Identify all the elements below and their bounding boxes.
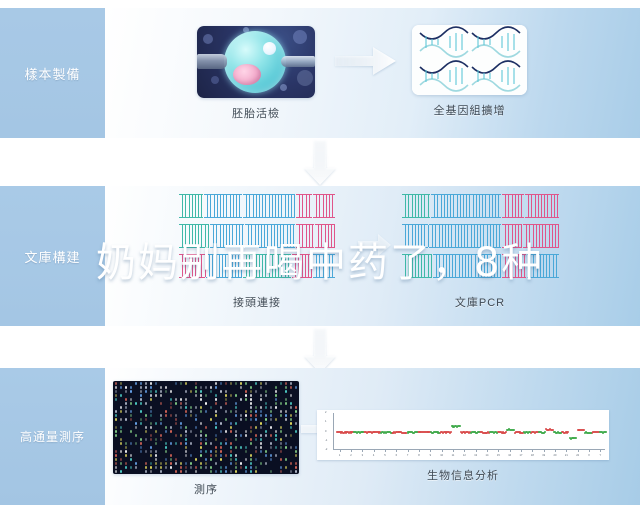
- step-sequencing: 測序: [113, 381, 299, 497]
- row-label-high-throughput-sequencing: 高通量測序: [0, 368, 105, 505]
- row-label-text: 文庫構建: [24, 247, 80, 266]
- workflow-row-sample-preparation: 樣本製備: [0, 8, 640, 138]
- step-bioinformatics-analysis: 210-1-2123456789101112131415161718192021…: [317, 410, 609, 483]
- bioinformatics-chart-icon: 210-1-2123456789101112131415161718192021…: [317, 410, 609, 460]
- step-adapter-ligation: 接頭連接: [177, 194, 337, 310]
- step-whole-genome-amplification: 全基因組擴增: [412, 25, 527, 118]
- workflow-row-library-construction: 文庫構建 接頭連接 文庫PCR: [0, 186, 640, 326]
- step-embryo-biopsy: 胚胎活檢: [197, 26, 315, 121]
- sequencing-image-icon: [113, 381, 299, 474]
- row-body-library-construction: 接頭連接 文庫PCR: [105, 186, 640, 326]
- step-caption: 文庫PCR: [455, 294, 505, 310]
- adapter-ligation-icon: [177, 194, 337, 292]
- row-body-sample-preparation: 胚胎活檢: [105, 8, 640, 138]
- workflow-diagram: 樣本製備: [0, 0, 640, 513]
- step-caption: 測序: [194, 481, 218, 497]
- library-pcr-icon: [400, 194, 560, 292]
- workflow-row-high-throughput-sequencing: 高通量測序 測序 210-1-2123456789101112131415161…: [0, 368, 640, 505]
- step-caption: 接頭連接: [233, 294, 281, 310]
- step-caption: 全基因組擴增: [434, 102, 506, 118]
- arrow-right-icon: [358, 232, 392, 258]
- row-label-library-construction: 文庫構建: [0, 186, 105, 326]
- step-caption: 生物信息分析: [427, 467, 499, 483]
- embryo-biopsy-icon: [197, 26, 315, 98]
- arrow-right-icon: [335, 46, 397, 76]
- row-label-text: 高通量測序: [20, 428, 85, 445]
- step-library-pcr: 文庫PCR: [400, 194, 560, 310]
- dna-helix-icon: [412, 25, 527, 95]
- row-label-sample-preparation: 樣本製備: [0, 8, 105, 138]
- row-body-high-throughput-sequencing: 測序 210-1-2123456789101112131415161718192…: [105, 368, 640, 505]
- step-caption: 胚胎活檢: [232, 105, 280, 121]
- arrow-down-icon-1: [303, 140, 337, 186]
- row-label-text: 樣本製備: [24, 64, 80, 83]
